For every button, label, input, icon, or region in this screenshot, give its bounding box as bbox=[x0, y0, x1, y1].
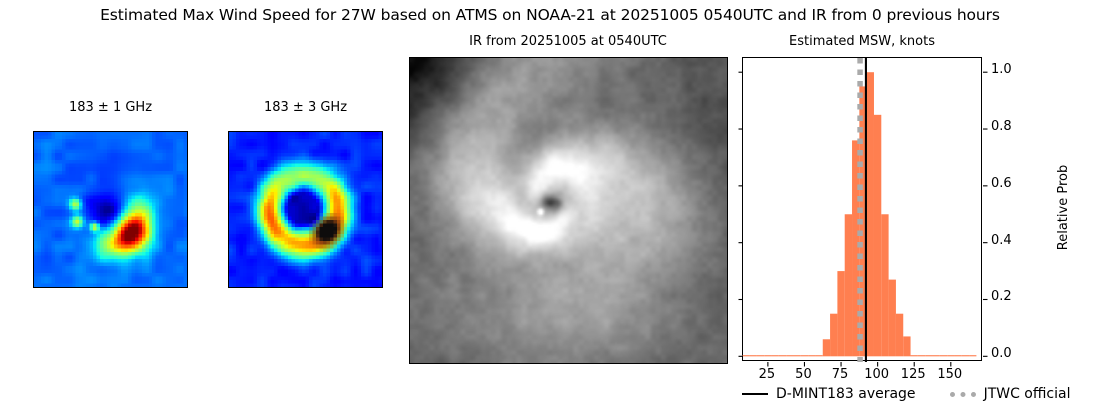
microwave-1-image bbox=[34, 132, 187, 287]
y-tick-label: 0.0 bbox=[991, 346, 1012, 361]
microwave-1-panel bbox=[33, 131, 188, 288]
figure-suptitle: Estimated Max Wind Speed for 27W based o… bbox=[0, 6, 1100, 24]
histogram-bar bbox=[896, 314, 903, 357]
histogram-bar bbox=[801, 355, 808, 356]
histogram-bar bbox=[903, 336, 910, 356]
histogram-bar bbox=[750, 355, 757, 356]
legend-entry-dmint: D-MINT183 average bbox=[742, 386, 916, 402]
histogram-title: Estimated MSW, knots bbox=[742, 34, 982, 49]
histogram-bar bbox=[772, 355, 779, 356]
y-tick-label: 1.0 bbox=[991, 62, 1012, 77]
histogram-ylabel: Relative Prob bbox=[1056, 165, 1071, 250]
histogram-legend: D-MINT183 average JTWC official bbox=[742, 386, 1087, 402]
legend-entry-jtwc: JTWC official bbox=[950, 386, 1071, 402]
histogram-bar bbox=[793, 355, 800, 356]
dotted-line-icon bbox=[950, 392, 976, 397]
histogram-bar bbox=[947, 355, 954, 356]
microwave-1-title: 183 ± 1 GHz bbox=[33, 100, 188, 115]
histogram-bar bbox=[940, 355, 947, 356]
histogram-bar bbox=[911, 355, 918, 356]
histogram-bar bbox=[925, 355, 932, 356]
histogram-plot bbox=[743, 58, 983, 362]
histogram-bar bbox=[764, 355, 771, 356]
x-tick-label: 150 bbox=[925, 367, 975, 382]
histogram-bar bbox=[874, 115, 881, 356]
figure-canvas: Estimated Max Wind Speed for 27W based o… bbox=[0, 0, 1100, 409]
histogram-bar bbox=[837, 271, 844, 356]
histogram-bar bbox=[786, 355, 793, 356]
histogram-bar bbox=[918, 355, 925, 356]
histogram-axes bbox=[742, 57, 982, 361]
histogram-bar bbox=[845, 214, 852, 356]
histogram-bar bbox=[889, 280, 896, 357]
microwave-2-title: 183 ± 3 GHz bbox=[228, 100, 383, 115]
histogram-bar bbox=[830, 314, 837, 357]
y-tick-label: 0.4 bbox=[991, 233, 1012, 248]
histogram-bar bbox=[969, 355, 976, 356]
histogram-bar bbox=[867, 72, 874, 356]
y-tick-label: 0.6 bbox=[991, 176, 1012, 191]
histogram-bar bbox=[742, 355, 749, 356]
histogram-bar bbox=[823, 339, 830, 356]
solid-line-icon bbox=[742, 393, 768, 395]
histogram-bar bbox=[779, 355, 786, 356]
microwave-2-image bbox=[229, 132, 382, 287]
histogram-bar bbox=[815, 355, 822, 356]
y-tick-label: 0.8 bbox=[991, 119, 1012, 134]
histogram-bar bbox=[933, 355, 940, 356]
legend-label-jtwc: JTWC official bbox=[984, 386, 1071, 402]
ir-panel-title: IR from 20251005 at 0540UTC bbox=[409, 34, 727, 49]
histogram-bar bbox=[881, 214, 888, 356]
ir-panel bbox=[409, 57, 728, 364]
histogram-bar bbox=[962, 355, 969, 356]
microwave-2-panel bbox=[228, 131, 383, 288]
histogram-bar bbox=[808, 355, 815, 356]
histogram-bar bbox=[757, 355, 764, 356]
y-tick-label: 0.2 bbox=[991, 289, 1012, 304]
legend-label-dmint: D-MINT183 average bbox=[776, 386, 916, 402]
ir-image bbox=[410, 58, 727, 363]
histogram-bar bbox=[954, 355, 961, 356]
